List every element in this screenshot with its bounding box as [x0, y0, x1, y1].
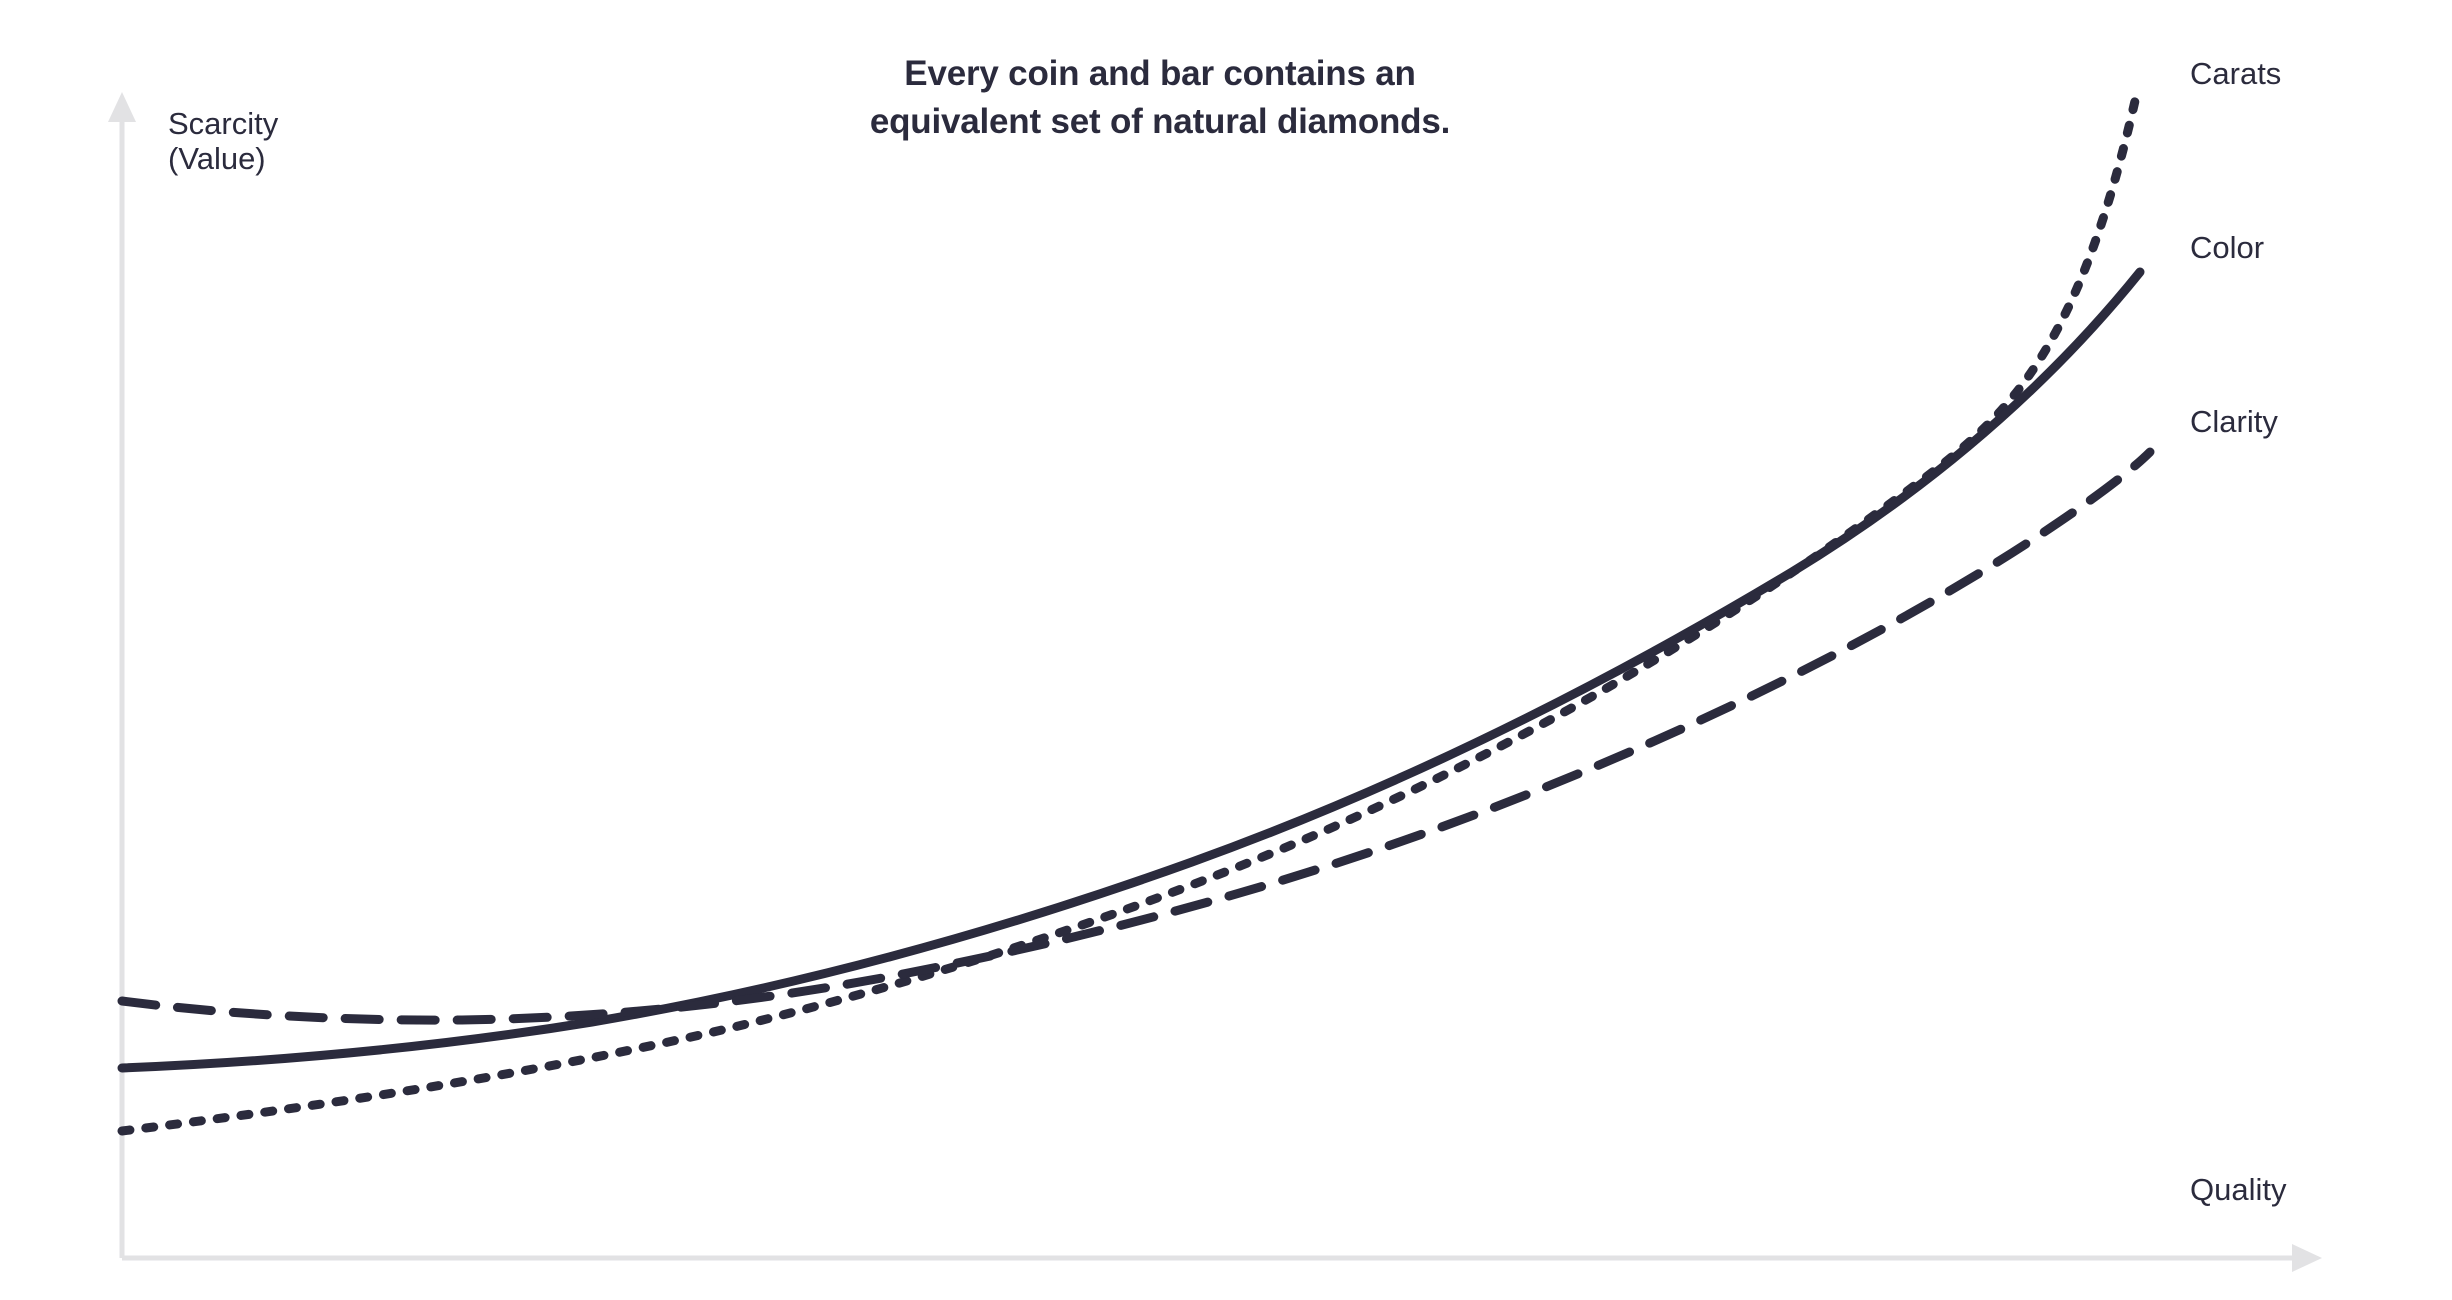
series-label-color: Color: [2190, 232, 2264, 263]
chart-title-line-1: Every coin and bar contains an: [780, 50, 1540, 98]
x-axis-arrowhead-icon: [2292, 1244, 2322, 1272]
chart-title-line-2: equivalent set of natural diamonds.: [780, 98, 1540, 146]
series-line-carats: [122, 92, 2137, 1131]
x-axis: [122, 1244, 2322, 1272]
series-label-clarity: Clarity: [2190, 406, 2278, 437]
chart-plot-area: [0, 0, 2452, 1300]
series-label-carats: Carats: [2190, 58, 2281, 89]
x-axis-title: Quality: [2190, 1172, 2286, 1207]
y-axis-arrowhead-icon: [108, 92, 136, 122]
chart-canvas: Every coin and bar contains an equivalen…: [0, 0, 2452, 1300]
y-axis: [108, 92, 136, 1258]
series-curves: [122, 92, 2150, 1131]
series-line-color: [122, 272, 2140, 1068]
y-axis-title: Scarcity (Value): [168, 106, 278, 176]
chart-title: Every coin and bar contains an equivalen…: [780, 50, 1540, 147]
